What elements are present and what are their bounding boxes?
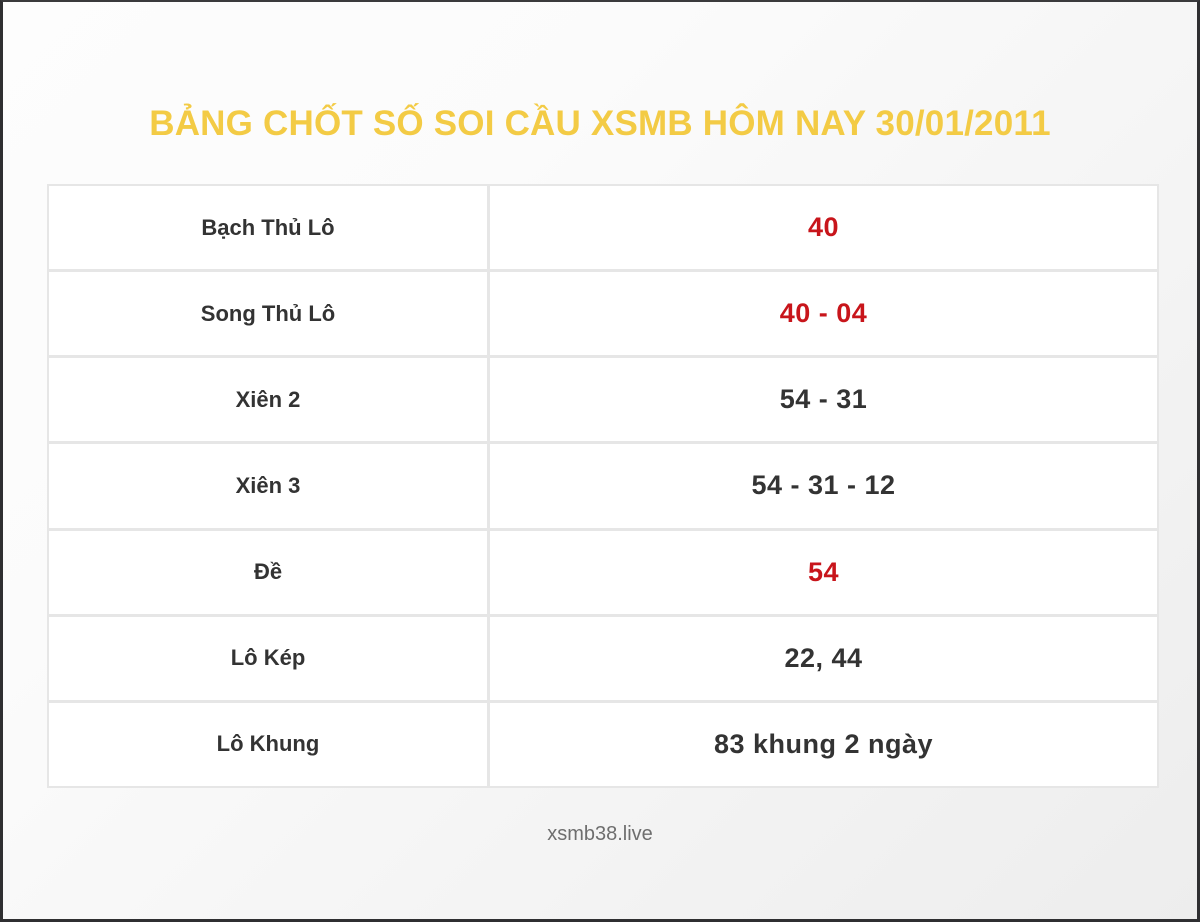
row-label: Lô Kép [49,617,490,700]
soi-cau-table: Bạch Thủ Lô 40 Song Thủ Lô 40 - 04 Xiên … [47,184,1159,788]
row-value: 83 khung 2 ngày [490,703,1157,786]
row-label: Song Thủ Lô [49,272,490,355]
table-row: Bạch Thủ Lô 40 [49,186,1157,272]
row-value: 54 - 31 - 12 [490,444,1157,527]
row-label: Bạch Thủ Lô [49,186,490,269]
table-row: Lô Kép 22, 44 [49,617,1157,703]
row-label: Xiên 3 [49,444,490,527]
table-row: Lô Khung 83 khung 2 ngày [49,703,1157,786]
row-label: Đề [49,531,490,614]
site-watermark: xsmb38.live [3,824,1197,844]
row-value: 40 [490,186,1157,269]
table-row: Xiên 2 54 - 31 [49,358,1157,444]
row-value: 22, 44 [490,617,1157,700]
table-row: Xiên 3 54 - 31 - 12 [49,444,1157,530]
page-root: BẢNG CHỐT SỐ SOI CẦU XSMB HÔM NAY 30/01/… [0,0,1200,922]
row-label: Lô Khung [49,703,490,786]
page-title: BẢNG CHỐT SỐ SOI CẦU XSMB HÔM NAY 30/01/… [3,106,1197,141]
row-value: 54 - 31 [490,358,1157,441]
table-row: Song Thủ Lô 40 - 04 [49,272,1157,358]
table-row: Đề 54 [49,531,1157,617]
row-value: 54 [490,531,1157,614]
row-value: 40 - 04 [490,272,1157,355]
row-label: Xiên 2 [49,358,490,441]
